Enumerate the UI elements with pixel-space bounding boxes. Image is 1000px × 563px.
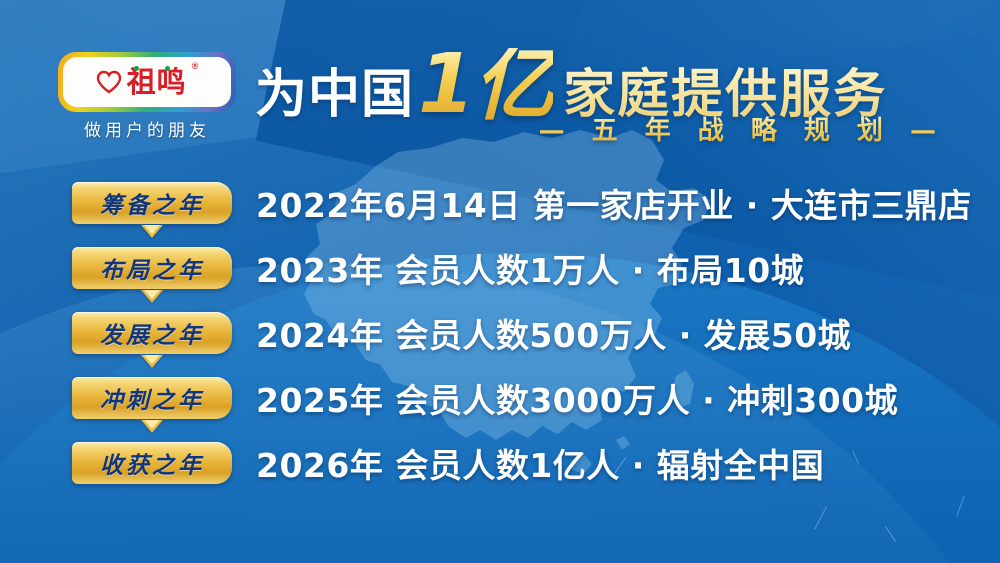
timeline-row-detail: 2023年 会员人数1万人 · 布局10城 — [256, 243, 804, 293]
timeline-row-detail: 2022年6月14日 第一家店开业 · 大连市三鼎店 — [256, 178, 972, 228]
stage-banner: 筹备之年 — [72, 182, 232, 224]
stage-banner: 收获之年 — [72, 442, 232, 484]
timeline-row-detail: 2024年 会员人数500万人 · 发展50城 — [256, 308, 851, 358]
headline-highlight: 1亿 — [418, 48, 553, 122]
timeline-row-detail: 2025年 会员人数3000万人 · 冲刺300城 — [256, 373, 898, 423]
headline-prefix: 为中国 — [255, 52, 414, 127]
heart-icon — [96, 70, 122, 94]
poster-canvas: 祖鸣 ® 做用户的朋友 为中国 1亿 家庭提供服务 — 五 年 战 略 规 划 … — [0, 0, 1000, 563]
logo-accent-dot — [165, 66, 170, 71]
chevron-down-icon — [141, 420, 163, 433]
stage-banner-label: 收获之年 — [100, 446, 204, 480]
logo-wordmark: 祖鸣 — [127, 68, 187, 97]
brand-logo: 祖鸣 ® — [58, 52, 236, 112]
headline-subtitle: — 五 年 战 略 规 划 — — [539, 110, 945, 147]
timeline: 筹备之年 2022年6月14日 第一家店开业 · 大连市三鼎店 布局之年 202… — [0, 178, 1000, 503]
stage-banner: 布局之年 — [72, 247, 232, 289]
chevron-down-icon — [141, 355, 163, 368]
logo-accent-dot — [134, 66, 139, 71]
logo-inner-plate: 祖鸣 ® — [63, 57, 231, 107]
stage-banner: 发展之年 — [72, 312, 232, 354]
brand-tagline: 做用户的朋友 — [52, 116, 242, 141]
timeline-row-detail: 2026年 会员人数1亿人 · 辐射全中国 — [256, 438, 824, 488]
stage-banner: 冲刺之年 — [72, 377, 232, 419]
timeline-row: 收获之年 2026年 会员人数1亿人 · 辐射全中国 — [0, 438, 1000, 503]
stage-banner-label: 布局之年 — [100, 251, 204, 285]
timeline-row: 布局之年 2023年 会员人数1万人 · 布局10城 — [0, 243, 1000, 308]
stage-banner-label: 发展之年 — [100, 316, 204, 350]
timeline-row: 冲刺之年 2025年 会员人数3000万人 · 冲刺300城 — [0, 373, 1000, 438]
timeline-row: 筹备之年 2022年6月14日 第一家店开业 · 大连市三鼎店 — [0, 178, 1000, 243]
registered-trademark-icon: ® — [192, 61, 199, 71]
chevron-down-icon — [141, 290, 163, 303]
stage-banner-label: 冲刺之年 — [100, 381, 204, 415]
stage-banner-label: 筹备之年 — [100, 186, 204, 220]
timeline-row: 发展之年 2024年 会员人数500万人 · 发展50城 — [0, 308, 1000, 373]
chevron-down-icon — [141, 225, 163, 238]
